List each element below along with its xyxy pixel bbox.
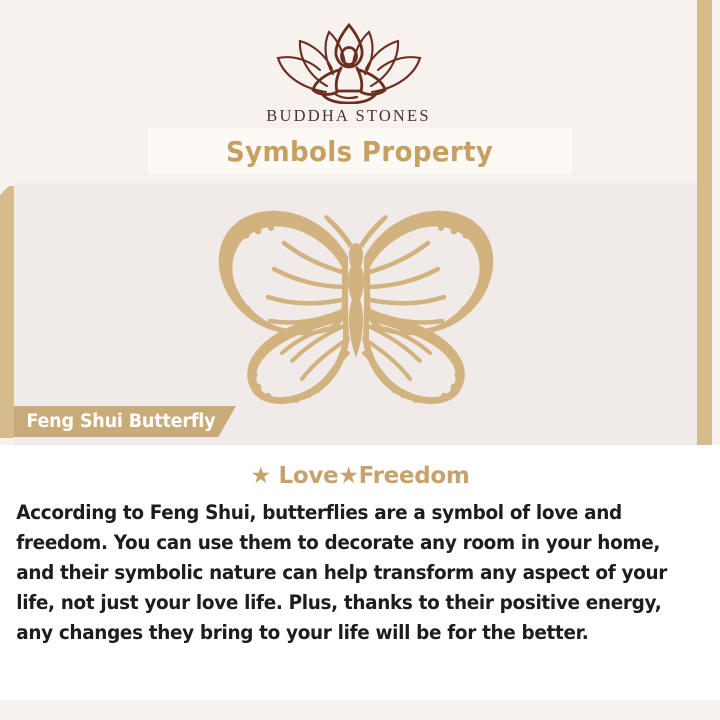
lotus-meditation-icon [269, 22, 429, 104]
content-subtitle: ★ Love★Freedom [0, 445, 720, 489]
figure-panel [14, 183, 697, 445]
figure-caption-banner: Feng Shui Butterfly [14, 406, 236, 437]
page-title: Symbols Property [226, 135, 493, 168]
promo-graphic: BUDDHA STONES Symbols Property [0, 0, 720, 720]
footer-strip [0, 700, 720, 720]
left-frame-bar [0, 186, 14, 438]
content-paragraph: According to Feng Shui, butterflies are … [0, 489, 696, 648]
title-band: Symbols Property [148, 128, 572, 174]
figure-caption-label: Feng Shui Butterfly [14, 411, 215, 432]
brand-name: BUDDHA STONES [0, 106, 697, 126]
butterfly-holder [14, 195, 697, 415]
brand-logo: BUDDHA STONES [0, 22, 697, 126]
butterfly-icon [196, 195, 516, 410]
content-area: ★ Love★Freedom According to Feng Shui, b… [0, 445, 720, 700]
